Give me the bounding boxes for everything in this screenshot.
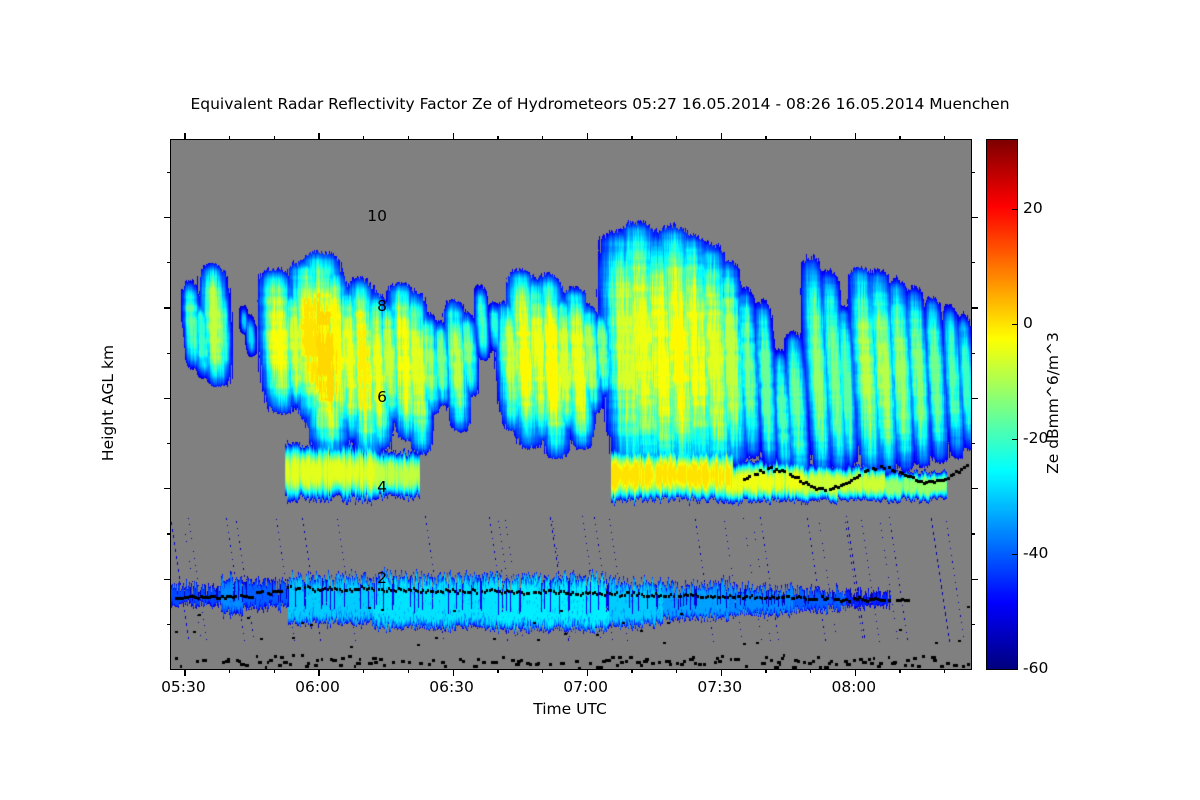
x-tick-major: [721, 669, 722, 676]
y-tick-label: 10: [367, 207, 387, 225]
page-title: Equivalent Radar Reflectivity Factor Ze …: [0, 95, 1200, 113]
x-tick-minor-top: [497, 136, 498, 140]
y-tick-major: [164, 488, 171, 489]
y-tick-minor-right: [971, 353, 975, 354]
x-tick-minor: [229, 669, 230, 673]
x-tick-minor: [810, 669, 811, 673]
colorbar-title: Ze dBmm^6/m^3: [1044, 332, 1062, 474]
x-tick-minor: [363, 669, 364, 673]
x-tick-minor-top: [229, 136, 230, 140]
y-tick-major-right: [971, 398, 978, 399]
x-tick-label: 07:30: [697, 678, 742, 696]
x-tick-label: 07:00: [563, 678, 608, 696]
x-tick-minor: [408, 669, 409, 673]
x-tick-minor: [497, 669, 498, 673]
x-tick-minor: [765, 669, 766, 673]
x-tick-minor-top: [765, 136, 766, 140]
x-tick-label: 06:30: [429, 678, 474, 696]
y-axis-title: Height AGL km: [99, 345, 117, 461]
x-tick-major-top: [721, 133, 722, 140]
x-tick-minor-top: [542, 136, 543, 140]
y-tick-minor: [167, 353, 171, 354]
x-tick-major-top: [184, 133, 185, 140]
colorbar-tick: [1012, 669, 1017, 670]
x-tick-minor: [542, 669, 543, 673]
colorbar-tick: [1012, 439, 1017, 440]
colorbar-tick: [1012, 554, 1017, 555]
y-tick-minor: [167, 533, 171, 534]
x-tick-label: 06:00: [295, 678, 340, 696]
x-tick-major: [587, 669, 588, 676]
figure-canvas: Equivalent Radar Reflectivity Factor Ze …: [0, 0, 1200, 800]
heatmap-image: [171, 140, 971, 669]
y-tick-minor-right: [971, 443, 975, 444]
y-tick-minor: [167, 624, 171, 625]
y-tick-major: [164, 579, 171, 580]
x-tick-minor-top: [810, 136, 811, 140]
x-tick-minor-top: [363, 136, 364, 140]
x-axis-title: Time UTC: [533, 700, 607, 718]
y-tick-label: 6: [377, 388, 387, 406]
colorbar-tick-label: -40: [1023, 544, 1048, 562]
x-tick-major-top: [587, 133, 588, 140]
x-tick-major: [184, 669, 185, 676]
colorbar-gradient: [987, 140, 1017, 669]
y-tick-major-right: [971, 488, 978, 489]
y-tick-major-right: [971, 579, 978, 580]
y-tick-major-right: [971, 307, 978, 308]
x-tick-major: [855, 669, 856, 676]
y-tick-minor: [167, 172, 171, 173]
x-tick-minor-top: [899, 136, 900, 140]
x-tick-minor: [899, 669, 900, 673]
y-tick-label: 4: [377, 478, 387, 496]
x-tick-minor-top: [408, 136, 409, 140]
colorbar-tick-label: -60: [1023, 659, 1048, 677]
x-tick-major-top: [318, 133, 319, 140]
y-tick-major: [164, 398, 171, 399]
x-tick-minor: [274, 669, 275, 673]
y-tick-major: [164, 307, 171, 308]
colorbar-tick: [1012, 209, 1017, 210]
x-tick-minor: [944, 669, 945, 673]
y-tick-label: 8: [377, 297, 387, 315]
radar-reflectivity-heatmap: [170, 139, 972, 670]
x-tick-label: 05:30: [161, 678, 206, 696]
colorbar-tick-label: 0: [1023, 314, 1033, 332]
y-tick-minor-right: [971, 624, 975, 625]
x-tick-minor: [631, 669, 632, 673]
x-tick-major-top: [453, 133, 454, 140]
y-tick-major-right: [971, 217, 978, 218]
y-tick-minor: [167, 262, 171, 263]
x-tick-major: [318, 669, 319, 676]
colorbar: [986, 139, 1018, 670]
x-tick-label: 08:00: [831, 678, 876, 696]
y-tick-minor-right: [971, 262, 975, 263]
x-tick-minor-top: [676, 136, 677, 140]
y-tick-minor-right: [971, 533, 975, 534]
x-tick-minor-top: [274, 136, 275, 140]
colorbar-tick: [1012, 324, 1017, 325]
x-tick-minor: [676, 669, 677, 673]
y-tick-major: [164, 217, 171, 218]
x-tick-minor-top: [944, 136, 945, 140]
colorbar-tick-label: 20: [1023, 199, 1043, 217]
y-tick-label: 2: [377, 569, 387, 587]
y-tick-minor: [167, 443, 171, 444]
x-tick-major: [453, 669, 454, 676]
x-tick-major-top: [855, 133, 856, 140]
y-tick-minor-right: [971, 172, 975, 173]
x-tick-minor-top: [631, 136, 632, 140]
